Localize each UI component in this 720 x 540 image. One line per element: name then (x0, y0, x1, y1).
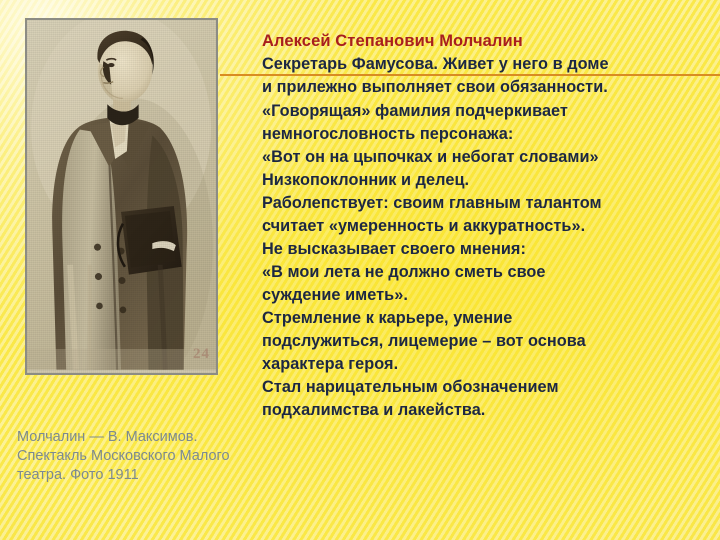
description-line: Низкопоклонник и делец. (262, 169, 714, 192)
description-line: характера героя. (262, 353, 714, 376)
portrait-illustration (27, 20, 216, 370)
slide-canvas: 24 Молчалин — В. Максимов. Спектакль Мос… (0, 0, 720, 540)
description-line: суждение иметь». (262, 284, 714, 307)
character-name-heading: Алексей Степанович Молчалин (262, 30, 714, 53)
description-line: Стремление к карьере, умение (262, 307, 714, 330)
description-line: Раболепствует: своим главным талантом (262, 192, 714, 215)
description-line: немногословность персонажа: (262, 123, 714, 146)
description-line: «В мои лета не должно сметь свое (262, 261, 714, 284)
description-line: Секретарь Фамусова. Живет у него в доме (262, 53, 714, 76)
description-line: «Говорящая» фамилия подчеркивает (262, 100, 714, 123)
description-line: Стал нарицательным обозначением (262, 376, 714, 399)
description-line: «Вот он на цыпочках и небогат словами» (262, 146, 714, 169)
description-line: и прилежно выполняет свои обязанности. (262, 76, 714, 99)
character-description: Секретарь Фамусова. Живет у него в домеи… (262, 53, 714, 422)
description-line: подслужиться, лицемерие – вот основа (262, 330, 714, 353)
description-line: подхалимства и лакейства. (262, 399, 714, 422)
portrait-photo: 24 (25, 18, 218, 375)
description-line: считает «умеренность и аккуратность». (262, 215, 714, 238)
photo-watermark: 24 (193, 346, 210, 363)
photo-caption: Молчалин — В. Максимов. Спектакль Москов… (17, 428, 232, 485)
description-line: Не высказывает своего мнения: (262, 238, 714, 261)
content-text-block: Алексей Степанович Молчалин Секретарь Фа… (262, 30, 714, 422)
